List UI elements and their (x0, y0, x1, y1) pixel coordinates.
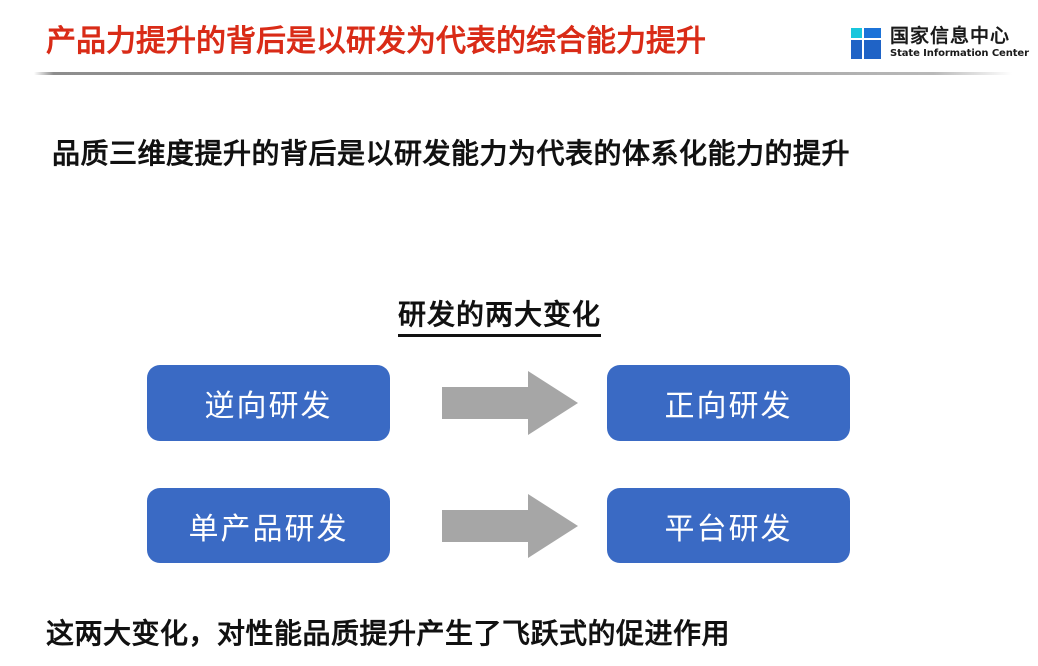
footer-statement: 这两大变化，对性能品质提升产生了飞跃式的促进作用 (46, 612, 730, 652)
logo-quadrant-bottom-right (864, 40, 881, 59)
flow-box-to-1: 正向研发 (607, 365, 850, 441)
logo-text: 国家信息中心 State Information Center (890, 27, 1029, 59)
slide-header: 产品力提升的背后是以研发为代表的综合能力提升 国家信息中心 State Info… (0, 0, 1038, 86)
state-information-center-icon (851, 28, 881, 59)
flow-box-to-2: 平台研发 (607, 488, 850, 563)
lead-statement: 品质三维度提升的背后是以研发能力为代表的体系化能力的提升 (52, 132, 850, 172)
logo-name-en: State Information Center (890, 49, 1029, 59)
slide: 产品力提升的背后是以研发为代表的综合能力提升 国家信息中心 State Info… (0, 0, 1038, 666)
logo-quadrant-top-right (864, 28, 881, 38)
header-divider (34, 72, 1012, 75)
flow-box-from-1: 逆向研发 (147, 365, 390, 441)
arrow-right-icon-2 (442, 494, 578, 558)
organization-logo: 国家信息中心 State Information Center (851, 27, 1029, 59)
flow-box-from-2: 单产品研发 (147, 488, 390, 563)
arrow-right-icon-1 (442, 371, 578, 435)
logo-quadrant-top-left (851, 28, 862, 38)
page-title: 产品力提升的背后是以研发为代表的综合能力提升 (46, 22, 706, 62)
logo-quadrant-bottom-left (851, 40, 862, 59)
logo-name-cn: 国家信息中心 (890, 27, 1029, 46)
section-title: 研发的两大变化 (398, 293, 601, 337)
